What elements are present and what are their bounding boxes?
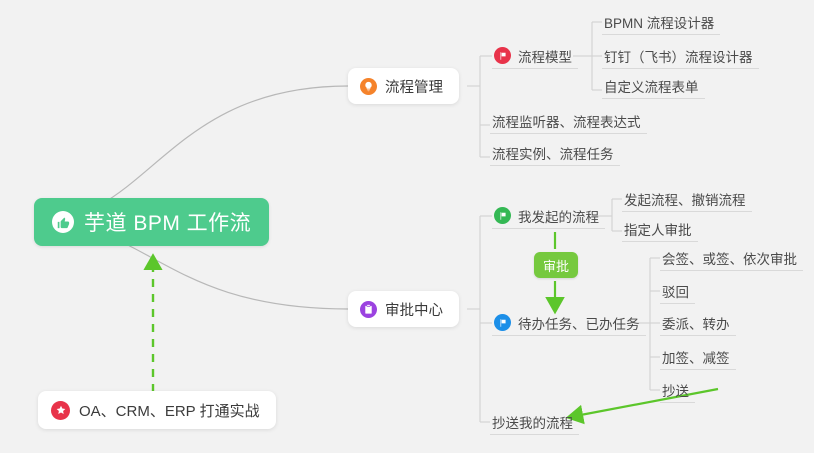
node-label: 发起流程、撤销流程 [624, 189, 746, 209]
node-carbon-copy[interactable]: 抄送 [660, 377, 695, 403]
node-my-started-processes[interactable]: 我发起的流程 [492, 203, 605, 229]
root-label: 芋道 BPM 工作流 [84, 207, 251, 237]
node-process-model[interactable]: 流程模型 [492, 43, 578, 69]
root-node[interactable]: 芋道 BPM 工作流 [34, 198, 269, 246]
node-countersign[interactable]: 会签、或签、依次审批 [660, 245, 803, 271]
note-integration-practice[interactable]: OA、CRM、ERP 打通实战 [38, 391, 276, 429]
node-assigned-approver[interactable]: 指定人审批 [622, 216, 698, 242]
node-todo-done-tasks[interactable]: 待办任务、已办任务 [492, 310, 646, 336]
node-label: 我发起的流程 [518, 206, 599, 226]
node-label: 加签、减签 [662, 347, 730, 367]
branch-label: 审批中心 [385, 299, 443, 320]
node-reject[interactable]: 驳回 [660, 278, 695, 304]
node-label: 抄送我的流程 [492, 412, 573, 432]
node-label: 会签、或签、依次审批 [662, 248, 797, 268]
mindmap-canvas: 芋道 BPM 工作流 流程管理 流程模型 BPMN 流程设计器 钉钉（飞书）流程… [0, 0, 814, 453]
thumbs-up-icon [52, 211, 74, 233]
branch-label: 流程管理 [385, 76, 443, 97]
node-label: 指定人审批 [624, 219, 692, 239]
node-add-remove-sign[interactable]: 加签、减签 [660, 344, 736, 370]
node-label: 待办任务、已办任务 [518, 313, 640, 333]
approval-badge: 审批 [534, 252, 578, 278]
node-cc-to-me[interactable]: 抄送我的流程 [490, 409, 579, 435]
node-process-listener[interactable]: 流程监听器、流程表达式 [490, 108, 647, 134]
node-label: 流程实例、流程任务 [492, 143, 614, 163]
node-label: 钉钉（飞书）流程设计器 [604, 46, 753, 66]
node-bpmn-designer[interactable]: BPMN 流程设计器 [602, 9, 720, 35]
node-start-cancel-process[interactable]: 发起流程、撤销流程 [622, 186, 752, 212]
node-label: 流程模型 [518, 46, 572, 66]
branch-approval-center[interactable]: 审批中心 [348, 291, 459, 327]
node-label: BPMN 流程设计器 [604, 12, 714, 32]
flag-icon [494, 207, 511, 224]
node-label: 委派、转办 [662, 313, 730, 333]
node-label: 流程监听器、流程表达式 [492, 111, 641, 131]
flag-icon [494, 47, 511, 64]
clipboard-icon [360, 301, 377, 318]
node-delegate-transfer[interactable]: 委派、转办 [660, 310, 736, 336]
node-custom-form[interactable]: 自定义流程表单 [602, 73, 705, 99]
node-label: 抄送 [662, 380, 689, 400]
node-dingtalk-designer[interactable]: 钉钉（飞书）流程设计器 [602, 43, 759, 69]
branch-process-management[interactable]: 流程管理 [348, 68, 459, 104]
star-icon [51, 401, 70, 420]
approval-badge-label: 审批 [543, 256, 569, 275]
node-process-instance[interactable]: 流程实例、流程任务 [490, 140, 620, 166]
flag-icon [494, 314, 511, 331]
note-label: OA、CRM、ERP 打通实战 [79, 400, 260, 421]
node-label: 驳回 [662, 281, 689, 301]
lightbulb-icon [360, 78, 377, 95]
node-label: 自定义流程表单 [604, 76, 699, 96]
